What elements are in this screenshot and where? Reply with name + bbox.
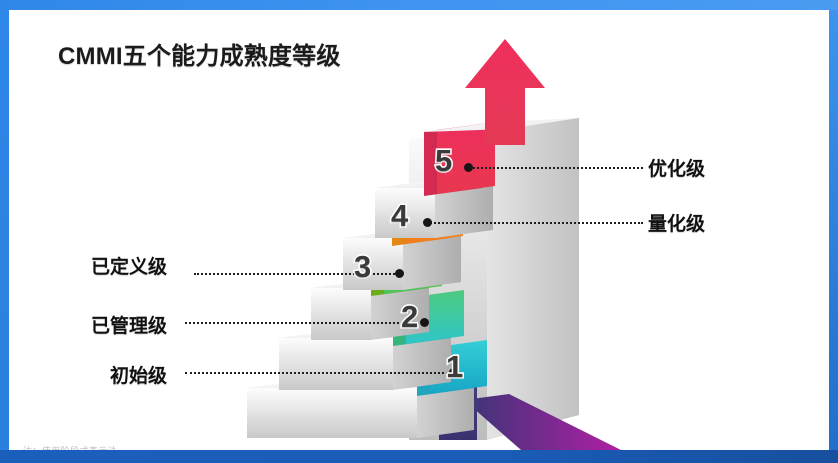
level-label-3: 已定义级: [91, 252, 167, 279]
level-number-2: 2: [401, 299, 418, 335]
leader-line-4: [427, 222, 643, 224]
leader-dot-3: [395, 269, 404, 278]
leader-line-5: [468, 167, 643, 169]
level-number-1: 1: [446, 349, 463, 385]
leader-dot-2: [420, 318, 429, 327]
slide-border-bottom: [0, 450, 838, 463]
slide-canvas: 初始级 已管理级 已定义级 量化级 优化级 1 2 3 4 5 CMMI五个能力…: [9, 10, 829, 450]
level-number-4: 4: [391, 198, 408, 234]
leader-dot-4: [423, 218, 432, 227]
level-label-5: 优化级: [648, 154, 705, 181]
leader-line-1: [185, 372, 452, 374]
leader-dot-5: [464, 163, 473, 172]
level-label-4: 量化级: [648, 209, 705, 236]
slide-border-right: [829, 10, 838, 453]
level-label-1: 初始级: [110, 361, 167, 388]
slide: 初始级 已管理级 已定义级 量化级 优化级 1 2 3 4 5 CMMI五个能力…: [0, 0, 838, 463]
level-label-2: 已管理级: [91, 311, 167, 338]
leader-line-2: [185, 322, 423, 324]
level-number-3: 3: [354, 249, 371, 285]
page-title: CMMI五个能力成熟度等级: [58, 36, 341, 71]
slide-border-top: [0, 0, 838, 10]
footnote-text: 注：使用阶段式表示法。: [23, 444, 126, 450]
slide-border-left: [0, 10, 9, 453]
level-number-5: 5: [435, 143, 452, 179]
